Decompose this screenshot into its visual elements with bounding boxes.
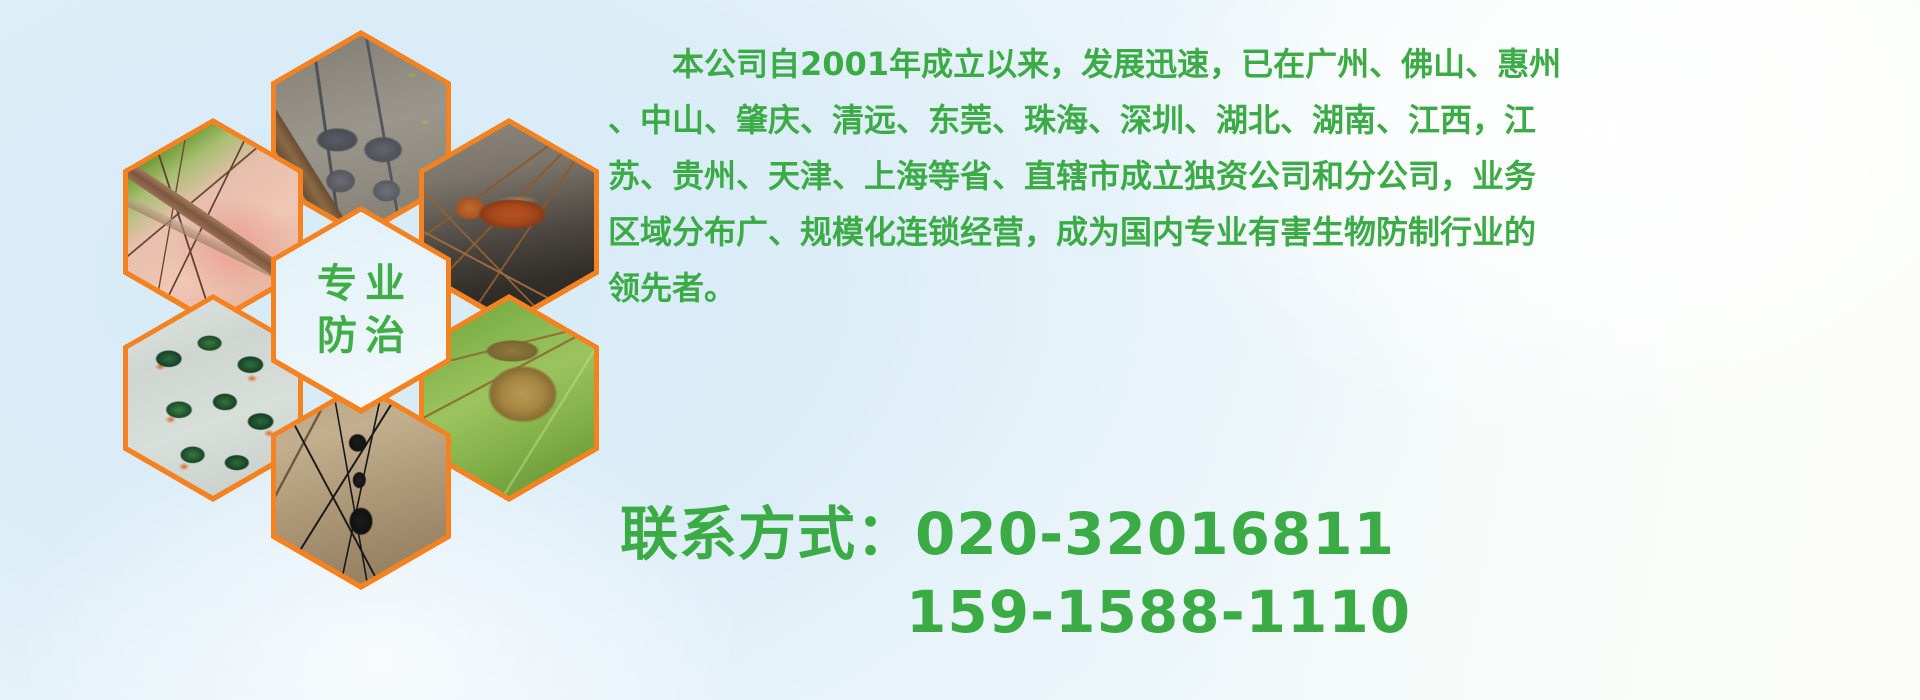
description-line-3: 苏、贵州、天津、上海等省、直辖市成立独资公司和分公司，业务 bbox=[608, 148, 1883, 204]
description-line-2: 、中山、肇庆、清远、东莞、珠海、深圳、湖北、湖南、江西，江 bbox=[608, 92, 1883, 148]
promo-banner: 专业 防治 本公司自2001年成立以来，发展迅速，已在广州、佛山、惠州 、中山、… bbox=[0, 0, 1920, 700]
contact-secondary-phone[interactable]: 159-1588-1110 bbox=[620, 573, 1880, 651]
description-line-4: 区域分布广、规模化连锁经营，成为国内专业有害生物防制行业的 bbox=[608, 204, 1883, 260]
ant-photo bbox=[276, 388, 446, 584]
hex-cell-ant-inner bbox=[276, 388, 446, 584]
description-line-1: 本公司自2001年成立以来，发展迅速，已在广州、佛山、惠州 bbox=[608, 36, 1883, 92]
slogan-text: 专业 防治 bbox=[276, 212, 446, 408]
hexagon-photo-cluster: 专业 防治 bbox=[95, 18, 575, 563]
slogan-line-1: 专业 bbox=[309, 263, 413, 305]
contact-info: 联系方式：020-32016811 159-1588-1110 bbox=[620, 495, 1880, 651]
hex-cell-slogan-inner: 专业 防治 bbox=[276, 212, 446, 408]
company-description: 本公司自2001年成立以来，发展迅速，已在广州、佛山、惠州 、中山、肇庆、清远、… bbox=[608, 36, 1883, 316]
description-line-5: 领先者。 bbox=[608, 260, 1883, 316]
contact-primary-phone[interactable]: 联系方式：020-32016811 bbox=[620, 495, 1880, 573]
slogan-line-2: 防治 bbox=[309, 315, 413, 357]
